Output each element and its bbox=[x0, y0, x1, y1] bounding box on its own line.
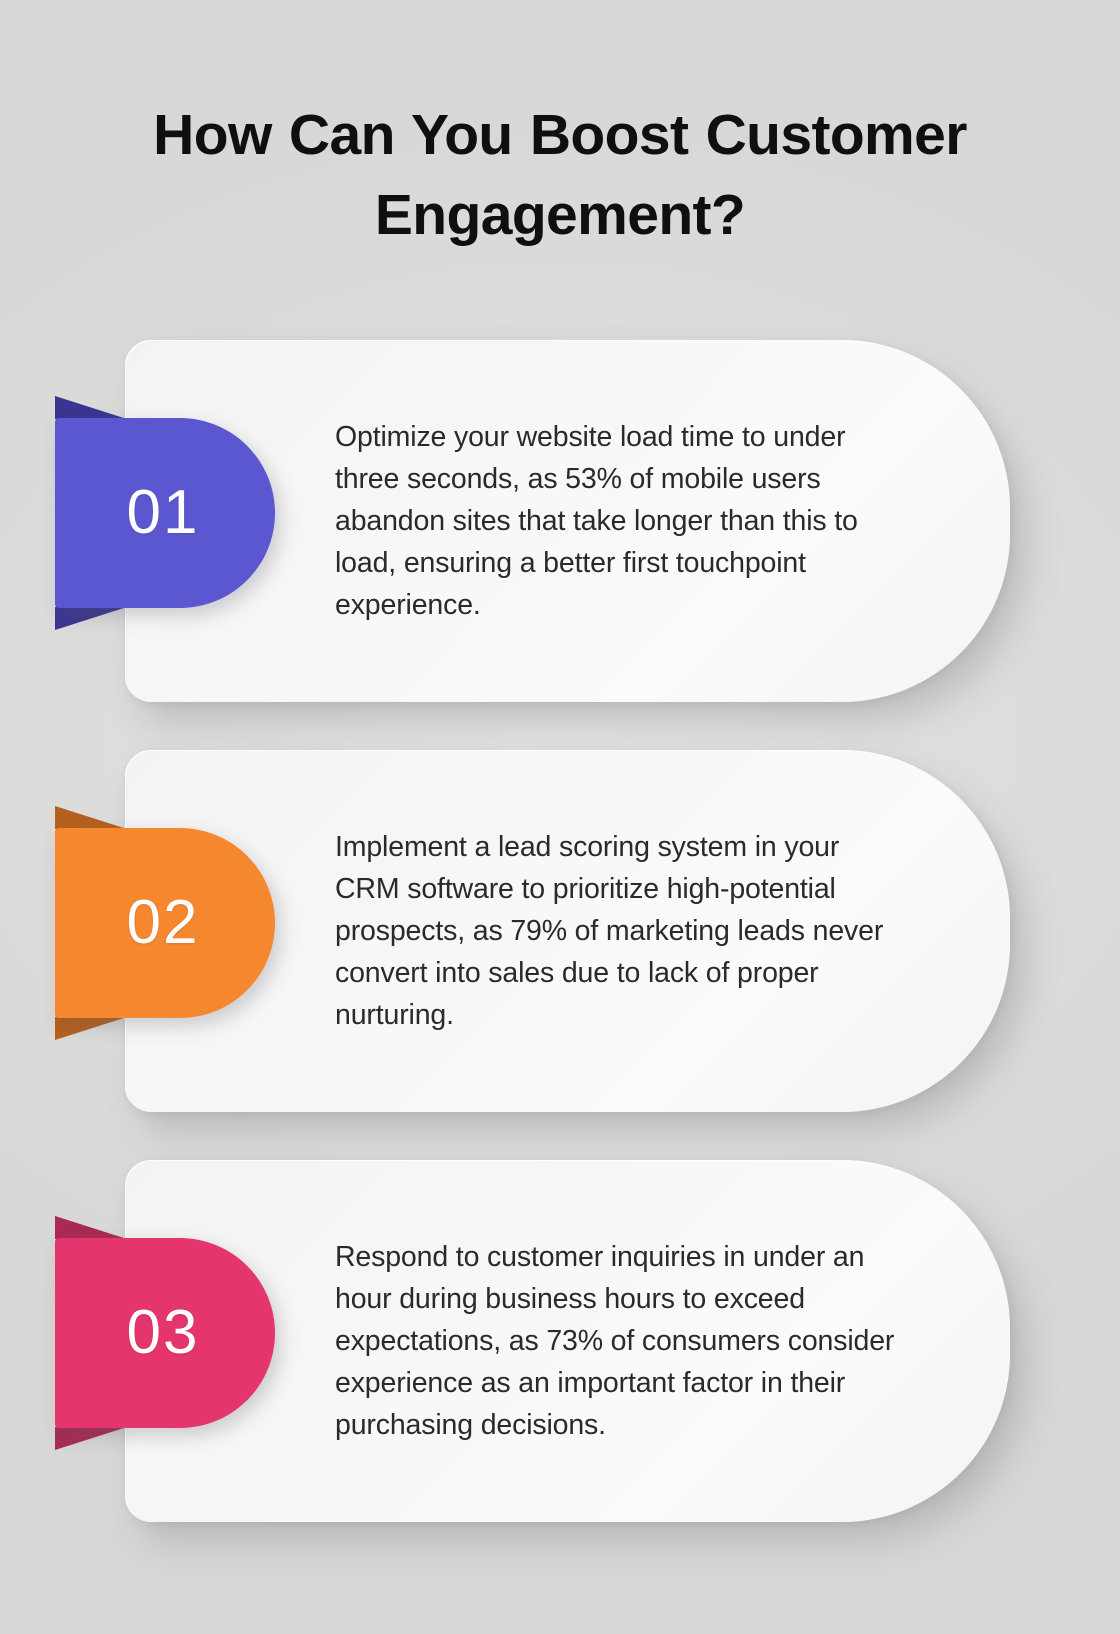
page-title: How Can You Boost Customer Engagement? bbox=[70, 96, 1050, 256]
ribbon-fold-bottom-icon-1 bbox=[55, 607, 127, 630]
page-title-text: How Can You Boost Customer Engagement? bbox=[70, 96, 1050, 256]
step-number-plate-1: 01 bbox=[55, 418, 275, 608]
step-number-plate-2: 02 bbox=[55, 828, 275, 1018]
step-number-3: 03 bbox=[127, 1302, 204, 1364]
ribbon-fold-bottom-icon-2 bbox=[55, 1017, 127, 1040]
step-description-3: Respond to customer inquiries in under a… bbox=[335, 1236, 910, 1446]
ribbon-fold-top-icon-2 bbox=[55, 806, 127, 829]
step-description-1: Optimize your website load time to under… bbox=[335, 416, 910, 626]
step-badge-3: 03 bbox=[55, 1238, 275, 1428]
steps-list: Optimize your website load time to under… bbox=[0, 340, 1120, 1522]
ribbon-fold-bottom-icon-3 bbox=[55, 1427, 127, 1450]
ribbon-fold-top-icon-3 bbox=[55, 1216, 127, 1239]
step-number-2: 02 bbox=[127, 892, 204, 954]
ribbon-fold-top-icon-1 bbox=[55, 396, 127, 419]
list-item: Implement a lead scoring system in your … bbox=[0, 750, 1120, 1112]
step-badge-2: 02 bbox=[55, 828, 275, 1018]
step-badge-1: 01 bbox=[55, 418, 275, 608]
step-number-plate-3: 03 bbox=[55, 1238, 275, 1428]
step-description-2: Implement a lead scoring system in your … bbox=[335, 826, 910, 1036]
list-item: Optimize your website load time to under… bbox=[0, 340, 1120, 702]
step-number-1: 01 bbox=[127, 482, 204, 544]
infographic-page: How Can You Boost Customer Engagement? O… bbox=[0, 0, 1120, 1634]
list-item: Respond to customer inquiries in under a… bbox=[0, 1160, 1120, 1522]
